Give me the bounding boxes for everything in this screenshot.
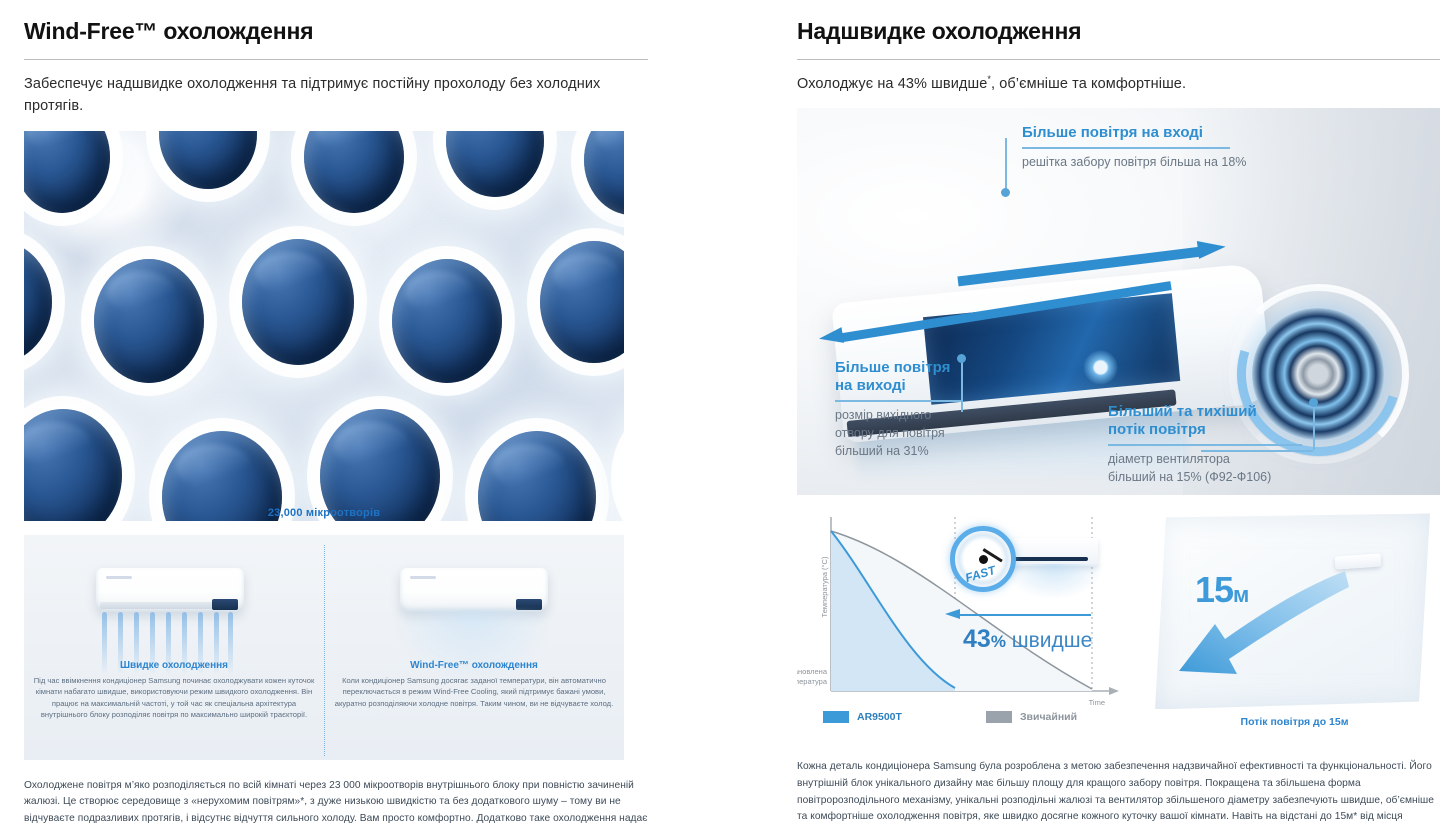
- microholes-pattern: [24, 131, 624, 521]
- svg-text:Time: Time: [1089, 698, 1105, 707]
- page-root: Wind-Free™ охолождення Забеспечує надшви…: [0, 0, 1440, 827]
- right-title-divider: [797, 59, 1440, 60]
- left-section-title: Wind-Free™ охолождення: [24, 0, 648, 45]
- windfree-cooling-card-body: Коли кондиціонер Samsung досягає заданої…: [329, 675, 619, 709]
- legend-swatch-conventional: [986, 711, 1012, 723]
- left-title-divider: [24, 59, 648, 60]
- callout-intake-body: решітка забору повітря більша на 18%: [1022, 154, 1246, 172]
- left-section-subtitle: Забеспечує надшвидке охолодження та підт…: [24, 73, 648, 118]
- fan-icon: [1082, 349, 1119, 386]
- airflow-distance-caption: Потік повітря до 15м: [1149, 716, 1440, 728]
- mini-ac-airflow: [1006, 564, 1102, 598]
- callout-intake: Більше повітря на вході решітка забору п…: [1022, 124, 1246, 172]
- airflow-distance-value: 15м: [1195, 569, 1248, 611]
- right-column: Надшвидке охолодження Охолоджує на 43% ш…: [797, 0, 1440, 827]
- callout-outlet-body: розмір вихідного отвору для повітря біль…: [835, 407, 963, 460]
- fast-cooling-badge: FAST: [950, 522, 1100, 602]
- callout-fan: Більший та тихіший потік повітря діаметр…: [1108, 403, 1302, 487]
- callout-intake-title: Більше повітря на вході: [1022, 124, 1246, 147]
- callout-fan-body: діаметр вентилятора більший на 15% (Ф92-…: [1108, 451, 1302, 487]
- speed-improvement-percent: %: [991, 632, 1006, 651]
- speed-improvement-label: 43% швидше: [963, 625, 1092, 654]
- legend-item-ar9500t: AR9500T: [823, 711, 902, 723]
- windfree-cooling-card: Wind-Free™ охолождення Коли кондиціонер …: [329, 660, 619, 709]
- microholes-hero-image: 23,000 мікроотворів: [24, 131, 624, 521]
- svg-text:Встановлена: Встановлена: [797, 667, 828, 676]
- windfree-cooling-card-title: Wind-Free™ охолождення: [329, 660, 619, 671]
- speed-arrow-icon: [945, 611, 1091, 621]
- performance-panel: Температура (°C) Встановлена температура…: [797, 511, 1440, 741]
- cooling-comparison-panel: Швидке охолодження Під час ввімкнення ко…: [24, 535, 624, 760]
- fast-cooling-card-body: Під час ввімкнення кондиціонер Samsung п…: [29, 675, 319, 721]
- legend-item-conventional: Звичайний: [986, 711, 1077, 723]
- left-column: Wind-Free™ охолождення Забеспечує надшви…: [24, 0, 648, 827]
- microholes-caption: 23,000 мікроотворів: [24, 507, 624, 519]
- distance-unit: м: [1233, 582, 1248, 607]
- panel-divider: [324, 545, 325, 756]
- fast-cooling-card: Швидке охолодження Під час ввімкнення ко…: [29, 660, 319, 721]
- airflow-distance-illustration: 15м Потік повітря до 15м: [1149, 511, 1440, 741]
- legend-swatch-ar9500t: [823, 711, 849, 723]
- ac-unit-windfree: [400, 568, 548, 612]
- right-section-subtitle: Охолоджує на 43% швидше*, об’ємніше та к…: [797, 73, 1440, 95]
- distance-number: 15: [1195, 569, 1233, 610]
- svg-text:Температура (°C): Температура (°C): [820, 557, 829, 618]
- left-description-paragraph: Охолоджене повітря м’яко розподіляється …: [24, 778, 648, 827]
- fast-dial-label: FAST: [964, 564, 997, 586]
- chart-legend: AR9500T Звичайний: [823, 711, 1077, 723]
- room-airflow-arrow-icon: [1149, 511, 1440, 711]
- ac-unit-fast: [96, 568, 244, 612]
- right-subtitle-pre: Охолоджує на 43% швидше: [797, 76, 987, 92]
- callout-leader-fan: [1309, 398, 1323, 458]
- callout-leader-intake: [1002, 138, 1014, 196]
- callout-outlet: Більше повітря на виході розмір вихідног…: [835, 359, 963, 460]
- callout-outlet-title: Більше повітря на виході: [835, 359, 957, 400]
- callout-fan-title: Більший та тихіший потік повітря: [1108, 403, 1284, 444]
- fast-dial-icon: FAST: [950, 526, 1016, 592]
- right-section-title: Надшвидке охолодження: [797, 0, 1440, 45]
- mini-ac-unit: [1008, 538, 1098, 566]
- legend-label-ar9500t: AR9500T: [857, 711, 902, 723]
- fast-cooling-card-title: Швидке охолодження: [29, 660, 319, 671]
- cooling-speed-chart: Температура (°C) Встановлена температура…: [797, 511, 1127, 741]
- legend-label-conventional: Звичайний: [1020, 711, 1077, 723]
- right-description-paragraph: Кожна деталь кондиціонера Samsung була р…: [797, 759, 1440, 827]
- speed-improvement-value: 43: [963, 625, 991, 653]
- svg-text:температура: температура: [797, 677, 828, 686]
- speed-improvement-word: швидше: [1012, 629, 1093, 652]
- ac-cutaway-hero-image: Більше повітря на вході решітка забору п…: [797, 108, 1440, 495]
- right-subtitle-post: , об’ємніше та комфортніше.: [991, 76, 1186, 92]
